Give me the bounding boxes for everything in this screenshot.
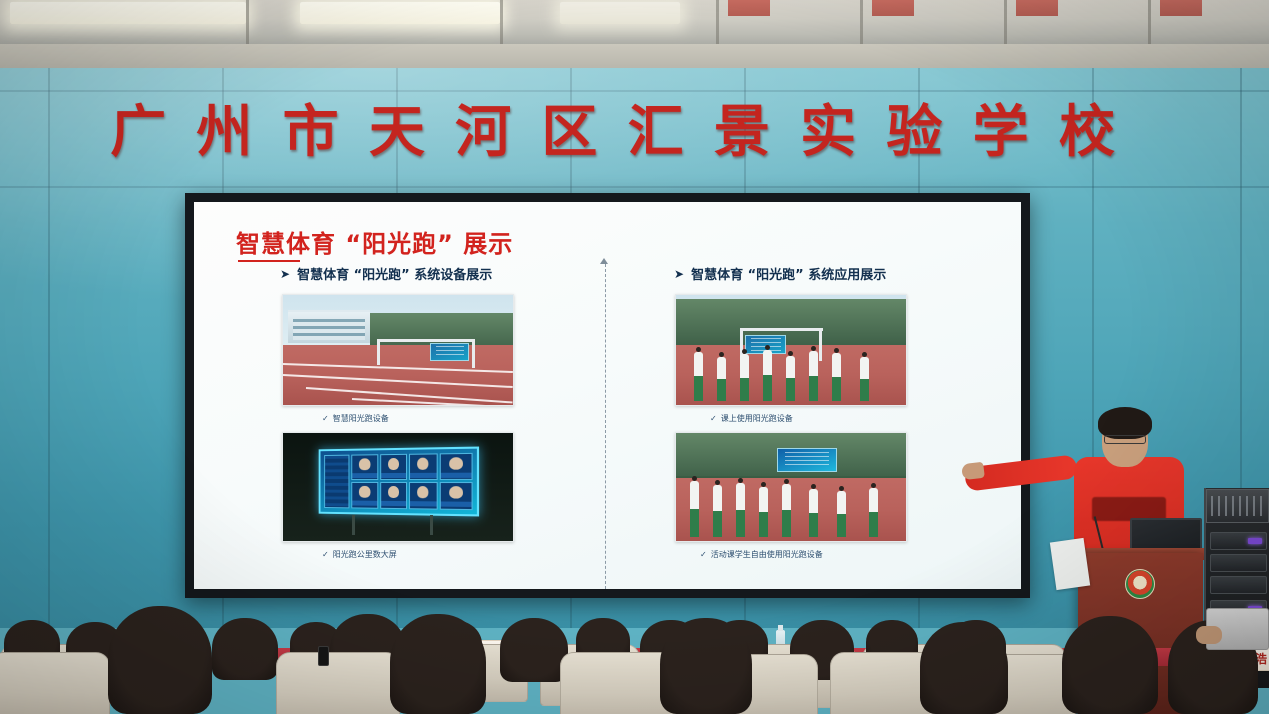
column-heading-left-text: 智慧体育 “阳光跑” 系统设备展示 bbox=[297, 264, 492, 283]
glasses-icon bbox=[1104, 435, 1146, 444]
school-name-char: 广 bbox=[95, 88, 181, 166]
check-icon: ✓ bbox=[322, 550, 329, 559]
audio-mixer[interactable] bbox=[1206, 489, 1269, 523]
slide-photo-track-gantry bbox=[282, 294, 514, 406]
column-divider bbox=[605, 264, 607, 589]
column-heading-right-text: 智慧体育 “阳光跑” 系统应用展示 bbox=[691, 264, 886, 283]
school-name-char: 验 bbox=[871, 88, 957, 166]
school-name-char: 学 bbox=[958, 88, 1044, 166]
school-name-char: 汇 bbox=[613, 88, 699, 166]
audience-member bbox=[1062, 616, 1158, 714]
auditorium-scene: 广 州 市 天 河 区 汇 景 实 验 学 校 智慧体育 “阳光跑” 展示 ➤ … bbox=[0, 0, 1269, 714]
audience-member bbox=[920, 622, 1008, 714]
check-icon: ✓ bbox=[710, 414, 717, 423]
photo-caption: ✓ 阳光跑公里数大屏 bbox=[322, 549, 397, 560]
podium-papers bbox=[1050, 538, 1090, 590]
check-icon: ✓ bbox=[322, 414, 329, 423]
school-name-char: 河 bbox=[440, 88, 526, 166]
school-name-char: 市 bbox=[268, 88, 354, 166]
column-heading-left: ➤ 智慧体育 “阳光跑” 系统设备展示 bbox=[280, 264, 492, 283]
photo-caption: ✓ 课上使用阳光跑设备 bbox=[710, 413, 793, 424]
divider-arrow-up-icon bbox=[600, 258, 608, 264]
smartphone bbox=[318, 646, 329, 666]
bullet-arrow-icon: ➤ bbox=[674, 267, 684, 281]
slide-title: 智慧体育 “阳光跑” 展示 bbox=[236, 224, 513, 259]
camera-operator-hand bbox=[1196, 626, 1222, 644]
audience-member bbox=[660, 618, 752, 714]
slide-photo-led-leaderboard bbox=[282, 432, 514, 542]
column-heading-right: ➤ 智慧体育 “阳光跑” 系统应用展示 bbox=[674, 264, 886, 283]
photo-caption-text: 课上使用阳光跑设备 bbox=[721, 413, 793, 424]
photo-caption: ✓ 智慧阳光跑设备 bbox=[322, 413, 389, 424]
title-underline bbox=[238, 260, 300, 262]
projection-screen: 智慧体育 “阳光跑” 展示 ➤ 智慧体育 “阳光跑” 系统设备展示 bbox=[185, 193, 1030, 598]
audience-seating bbox=[0, 596, 1269, 714]
ceiling-soffit bbox=[0, 44, 1269, 70]
photo-caption-text: 阳光跑公里数大屏 bbox=[333, 549, 397, 560]
audience-member bbox=[212, 618, 278, 680]
ceiling bbox=[0, 0, 1269, 46]
audience-member bbox=[390, 614, 486, 714]
slide-photo-class-running bbox=[675, 294, 907, 406]
school-name-char: 天 bbox=[354, 88, 440, 166]
slide-surface: 智慧体育 “阳光跑” 展示 ➤ 智慧体育 “阳光跑” 系统设备展示 bbox=[194, 202, 1021, 589]
school-name-char: 景 bbox=[699, 88, 785, 166]
photo-caption-text: 智慧阳光跑设备 bbox=[333, 413, 389, 424]
school-name-char: 区 bbox=[526, 88, 612, 166]
check-icon: ✓ bbox=[700, 550, 707, 559]
photo-caption-text: 活动课学生自由使用阳光跑设备 bbox=[711, 549, 823, 560]
bullet-arrow-icon: ➤ bbox=[280, 267, 290, 281]
school-name-char: 校 bbox=[1044, 88, 1130, 166]
school-emblem-icon bbox=[1125, 569, 1155, 599]
audience-member bbox=[500, 618, 568, 682]
school-name-char: 实 bbox=[785, 88, 871, 166]
audience-member bbox=[108, 606, 212, 714]
slide-photo-activity-class bbox=[675, 432, 907, 542]
presenter-hand bbox=[961, 462, 985, 481]
school-name-char: 州 bbox=[181, 88, 267, 166]
photo-caption: ✓ 活动课学生自由使用阳光跑设备 bbox=[700, 549, 823, 560]
school-name-sign: 广 州 市 天 河 区 汇 景 实 验 学 校 bbox=[95, 88, 1130, 166]
